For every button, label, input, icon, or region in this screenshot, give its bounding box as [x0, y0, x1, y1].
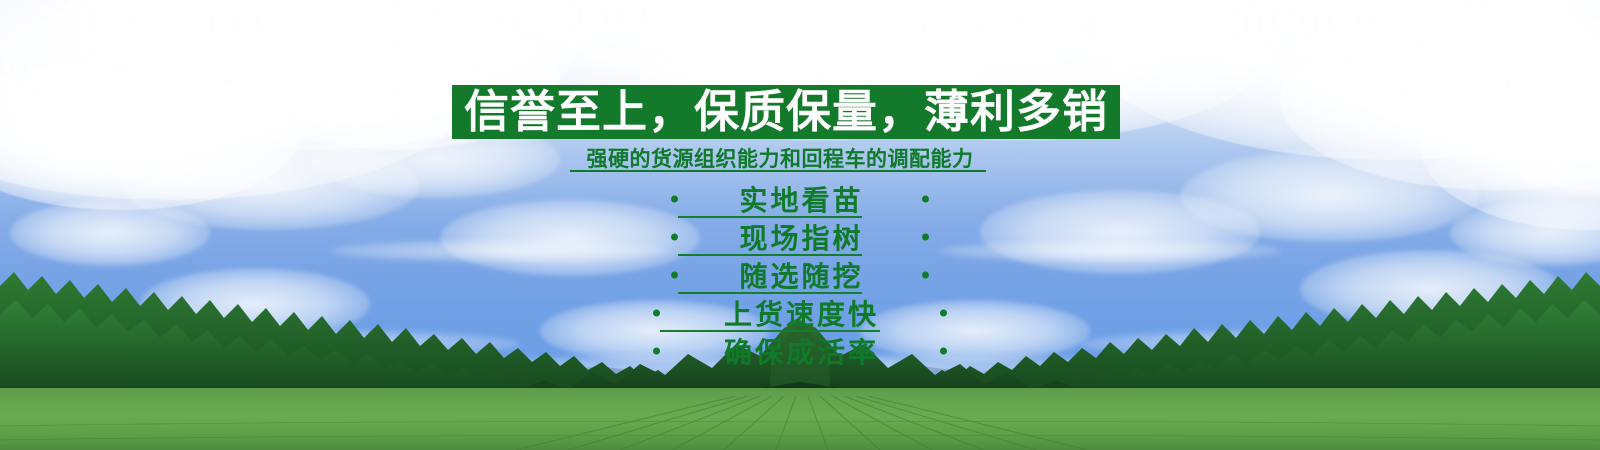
bullet-dot-icon — [940, 348, 947, 355]
feature-list: 实地看苗 现场指树 随选随挖 上货速度快 确保成活率 — [600, 180, 1000, 370]
headline-text: 信誉至上，保质保量，薄利多销 — [452, 85, 1120, 139]
subtitle-text: 强硬的货源组织能力和回程车的调配能力 — [500, 143, 1060, 173]
feature-label: 随选随挖 — [600, 255, 1000, 295]
bullet-dot-icon — [922, 234, 929, 241]
bullet-dot-icon — [922, 272, 929, 279]
feature-label: 现场指树 — [600, 217, 1000, 257]
subtitle-underline — [570, 170, 986, 172]
feature-item: 确保成活率 — [600, 332, 1000, 370]
feature-item: 现场指树 — [600, 218, 1000, 256]
crop-rows — [0, 396, 1600, 450]
promo-banner: 信誉至上，保质保量，薄利多销 强硬的货源组织能力和回程车的调配能力 实地看苗 现… — [0, 0, 1600, 450]
bullet-dot-icon — [922, 196, 929, 203]
feature-item: 随选随挖 — [600, 256, 1000, 294]
bullet-dot-icon — [940, 310, 947, 317]
feature-label: 实地看苗 — [600, 179, 1000, 219]
feature-item: 上货速度快 — [600, 294, 1000, 332]
feature-item: 实地看苗 — [600, 180, 1000, 218]
